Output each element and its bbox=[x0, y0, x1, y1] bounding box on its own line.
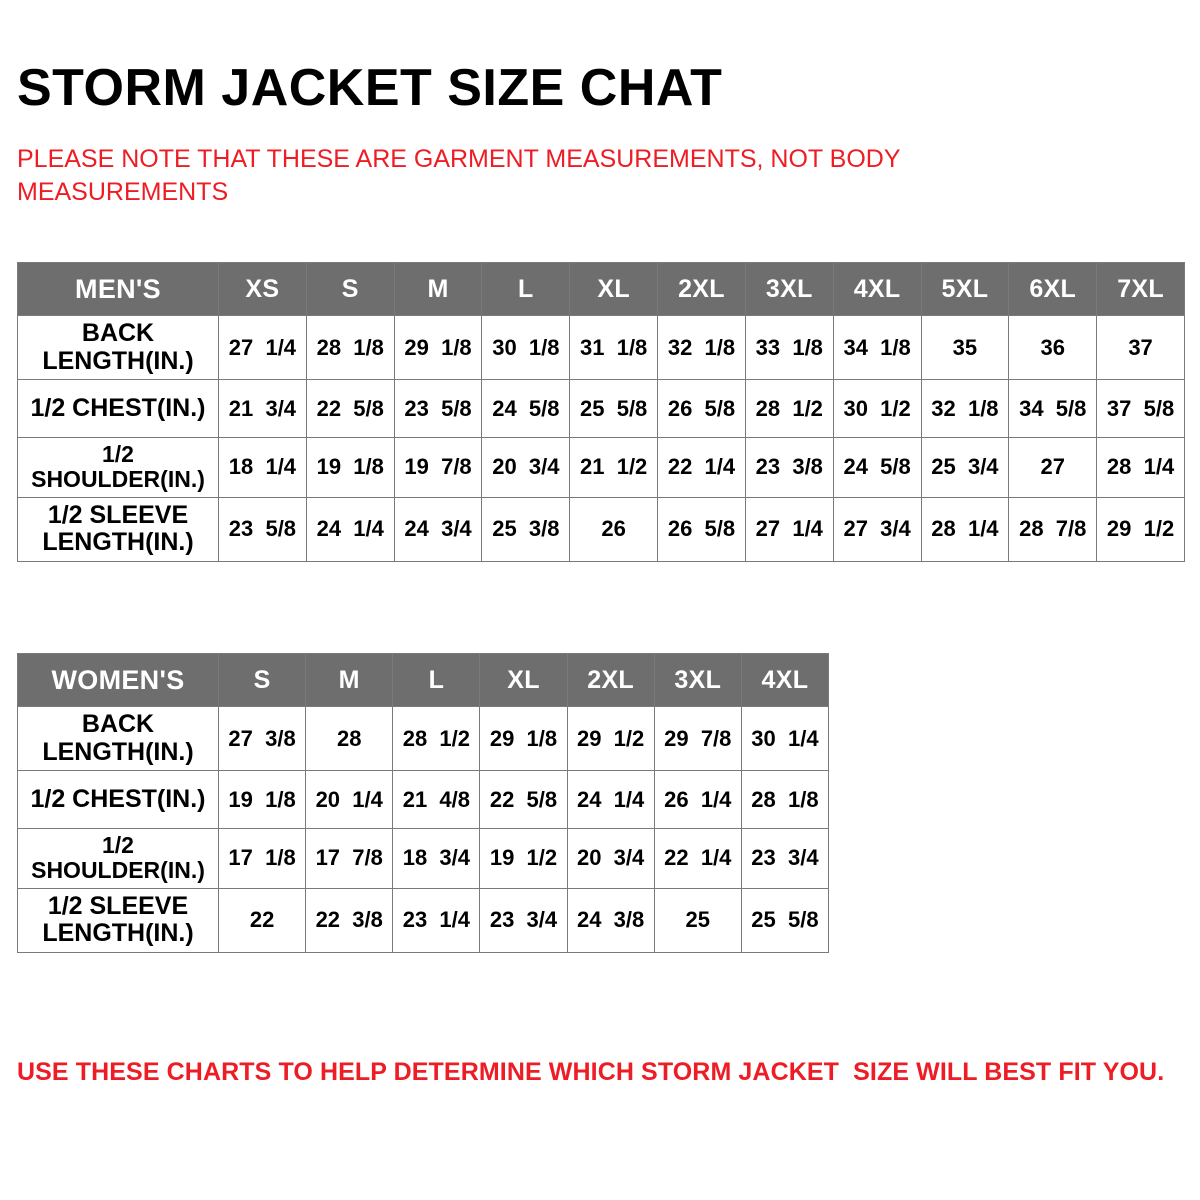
womens-size-header-l: L bbox=[393, 654, 480, 707]
womens-measure-label: BACKLENGTH(IN.) bbox=[18, 707, 219, 771]
mens-measure-label: 1/2 SHOULDER(IN.) bbox=[18, 438, 219, 498]
measurement-cell: 25 5/8 bbox=[570, 380, 658, 438]
measurement-cell: 28 bbox=[306, 707, 393, 771]
measurement-cell: 17 7/8 bbox=[306, 829, 393, 889]
measurement-cell: 26 5/8 bbox=[658, 380, 746, 438]
measurement-cell: 34 1/8 bbox=[833, 316, 921, 380]
measurement-cell: 22 1/4 bbox=[658, 438, 746, 498]
mens-size-header-xs: XS bbox=[219, 263, 307, 316]
mens-header-row: MEN'SXSSMLXL2XL3XL4XL5XL6XL7XL bbox=[18, 263, 1185, 316]
measurement-cell: 30 1/8 bbox=[482, 316, 570, 380]
measurement-cell: 28 1/8 bbox=[306, 316, 394, 380]
measurement-cell: 29 1/8 bbox=[480, 707, 567, 771]
measurement-cell: 27 1/4 bbox=[745, 497, 833, 561]
measurement-cell: 28 1/8 bbox=[741, 771, 828, 829]
womens-size-table: WOMEN'SSMLXL2XL3XL4XL BACKLENGTH(IN.)27 … bbox=[17, 653, 829, 953]
womens-corner-header: WOMEN'S bbox=[18, 654, 219, 707]
mens-measure-label: 1/2 CHEST(IN.) bbox=[18, 380, 219, 438]
mens-measure-label: 1/2 SLEEVELENGTH(IN.) bbox=[18, 497, 219, 561]
measurement-cell: 26 5/8 bbox=[658, 497, 746, 561]
mens-size-header-3xl: 3XL bbox=[745, 263, 833, 316]
measurement-cell: 25 3/4 bbox=[921, 438, 1009, 498]
measurement-cell: 20 3/4 bbox=[567, 829, 654, 889]
mens-size-header-s: S bbox=[306, 263, 394, 316]
measurement-cell: 29 1/8 bbox=[394, 316, 482, 380]
mens-size-header-5xl: 5XL bbox=[921, 263, 1009, 316]
table-row: BACKLENGTH(IN.)27 3/82828 1/229 1/829 1/… bbox=[18, 707, 829, 771]
mens-size-header-xl: XL bbox=[570, 263, 658, 316]
table-row: 1/2 SLEEVELENGTH(IN.)23 5/824 1/424 3/42… bbox=[18, 497, 1185, 561]
mens-table-body: BACKLENGTH(IN.)27 1/428 1/829 1/830 1/83… bbox=[18, 316, 1185, 562]
measurement-cell: 30 1/4 bbox=[741, 707, 828, 771]
measurement-cell: 22 1/4 bbox=[654, 829, 741, 889]
table-row: 1/2 CHEST(IN.)19 1/820 1/421 4/822 5/824… bbox=[18, 771, 829, 829]
womens-size-header-4xl: 4XL bbox=[741, 654, 828, 707]
garment-measurement-note: PLEASE NOTE THAT THESE ARE GARMENT MEASU… bbox=[17, 143, 1067, 209]
womens-size-header-s: S bbox=[219, 654, 306, 707]
measurement-cell: 22 bbox=[219, 888, 306, 952]
table-row: 1/2 SLEEVELENGTH(IN.)2222 3/823 1/423 3/… bbox=[18, 888, 829, 952]
mens-size-header-l: L bbox=[482, 263, 570, 316]
measurement-cell: 34 5/8 bbox=[1009, 380, 1097, 438]
measurement-cell: 29 7/8 bbox=[654, 707, 741, 771]
measurement-cell: 27 1/4 bbox=[219, 316, 307, 380]
mens-corner-header: MEN'S bbox=[18, 263, 219, 316]
table-row: 1/2 CHEST(IN.)21 3/422 5/823 5/824 5/825… bbox=[18, 380, 1185, 438]
measurement-cell: 22 3/8 bbox=[306, 888, 393, 952]
womens-measure-label: 1/2 SHOULDER(IN.) bbox=[18, 829, 219, 889]
measurement-cell: 22 5/8 bbox=[306, 380, 394, 438]
measurement-cell: 24 1/4 bbox=[306, 497, 394, 561]
measurement-cell: 23 1/4 bbox=[393, 888, 480, 952]
mens-size-header-m: M bbox=[394, 263, 482, 316]
measurement-cell: 24 5/8 bbox=[482, 380, 570, 438]
mens-size-header-6xl: 6XL bbox=[1009, 263, 1097, 316]
womens-size-header-m: M bbox=[306, 654, 393, 707]
womens-size-header-3xl: 3XL bbox=[654, 654, 741, 707]
measurement-cell: 29 1/2 bbox=[567, 707, 654, 771]
measurement-cell: 18 3/4 bbox=[393, 829, 480, 889]
measurement-cell: 30 1/2 bbox=[833, 380, 921, 438]
mens-size-header-7xl: 7XL bbox=[1097, 263, 1185, 316]
measurement-cell: 25 bbox=[654, 888, 741, 952]
measurement-cell: 24 3/4 bbox=[394, 497, 482, 561]
page-title: STORM JACKET SIZE CHAT bbox=[17, 61, 722, 116]
table-row: 1/2 SHOULDER(IN.)17 1/817 7/818 3/419 1/… bbox=[18, 829, 829, 889]
measurement-cell: 23 3/4 bbox=[741, 829, 828, 889]
measurement-cell: 28 1/2 bbox=[745, 380, 833, 438]
measurement-cell: 35 bbox=[921, 316, 1009, 380]
measurement-cell: 27 3/4 bbox=[833, 497, 921, 561]
measurement-cell: 26 bbox=[570, 497, 658, 561]
measurement-cell: 28 7/8 bbox=[1009, 497, 1097, 561]
measurement-cell: 27 bbox=[1009, 438, 1097, 498]
measurement-cell: 23 5/8 bbox=[394, 380, 482, 438]
measurement-cell: 24 5/8 bbox=[833, 438, 921, 498]
measurement-cell: 26 1/4 bbox=[654, 771, 741, 829]
measurement-cell: 31 1/8 bbox=[570, 316, 658, 380]
measurement-cell: 37 bbox=[1097, 316, 1185, 380]
footer-guidance-text: USE THESE CHARTS TO HELP DETERMINE WHICH… bbox=[17, 1058, 1164, 1087]
measurement-cell: 36 bbox=[1009, 316, 1097, 380]
measurement-cell: 23 3/4 bbox=[480, 888, 567, 952]
mens-table-header: MEN'SXSSMLXL2XL3XL4XL5XL6XL7XL bbox=[18, 263, 1185, 316]
measurement-cell: 32 1/8 bbox=[921, 380, 1009, 438]
measurement-cell: 20 3/4 bbox=[482, 438, 570, 498]
womens-size-header-2xl: 2XL bbox=[567, 654, 654, 707]
mens-size-header-4xl: 4XL bbox=[833, 263, 921, 316]
measurement-cell: 20 1/4 bbox=[306, 771, 393, 829]
measurement-cell: 25 3/8 bbox=[482, 497, 570, 561]
measurement-cell: 28 1/2 bbox=[393, 707, 480, 771]
measurement-cell: 19 7/8 bbox=[394, 438, 482, 498]
measurement-cell: 37 5/8 bbox=[1097, 380, 1185, 438]
womens-measure-label: 1/2 SLEEVELENGTH(IN.) bbox=[18, 888, 219, 952]
measurement-cell: 19 1/8 bbox=[219, 771, 306, 829]
mens-size-table: MEN'SXSSMLXL2XL3XL4XL5XL6XL7XL BACKLENGT… bbox=[17, 262, 1185, 562]
measurement-cell: 24 1/4 bbox=[567, 771, 654, 829]
womens-table-header: WOMEN'SSMLXL2XL3XL4XL bbox=[18, 654, 829, 707]
table-row: 1/2 SHOULDER(IN.)18 1/419 1/819 7/820 3/… bbox=[18, 438, 1185, 498]
measurement-cell: 19 1/2 bbox=[480, 829, 567, 889]
measurement-cell: 24 3/8 bbox=[567, 888, 654, 952]
measurement-cell: 29 1/2 bbox=[1097, 497, 1185, 561]
measurement-cell: 28 1/4 bbox=[1097, 438, 1185, 498]
measurement-cell: 21 1/2 bbox=[570, 438, 658, 498]
measurement-cell: 28 1/4 bbox=[921, 497, 1009, 561]
measurement-cell: 23 5/8 bbox=[219, 497, 307, 561]
mens-measure-label: BACKLENGTH(IN.) bbox=[18, 316, 219, 380]
womens-table-body: BACKLENGTH(IN.)27 3/82828 1/229 1/829 1/… bbox=[18, 707, 829, 953]
measurement-cell: 18 1/4 bbox=[219, 438, 307, 498]
womens-measure-label: 1/2 CHEST(IN.) bbox=[18, 771, 219, 829]
measurement-cell: 27 3/8 bbox=[219, 707, 306, 771]
measurement-cell: 33 1/8 bbox=[745, 316, 833, 380]
measurement-cell: 21 4/8 bbox=[393, 771, 480, 829]
measurement-cell: 22 5/8 bbox=[480, 771, 567, 829]
measurement-cell: 19 1/8 bbox=[306, 438, 394, 498]
measurement-cell: 21 3/4 bbox=[219, 380, 307, 438]
womens-header-row: WOMEN'SSMLXL2XL3XL4XL bbox=[18, 654, 829, 707]
measurement-cell: 23 3/8 bbox=[745, 438, 833, 498]
measurement-cell: 32 1/8 bbox=[658, 316, 746, 380]
womens-size-header-xl: XL bbox=[480, 654, 567, 707]
measurement-cell: 17 1/8 bbox=[219, 829, 306, 889]
measurement-cell: 25 5/8 bbox=[741, 888, 828, 952]
table-row: BACKLENGTH(IN.)27 1/428 1/829 1/830 1/83… bbox=[18, 316, 1185, 380]
mens-size-header-2xl: 2XL bbox=[658, 263, 746, 316]
